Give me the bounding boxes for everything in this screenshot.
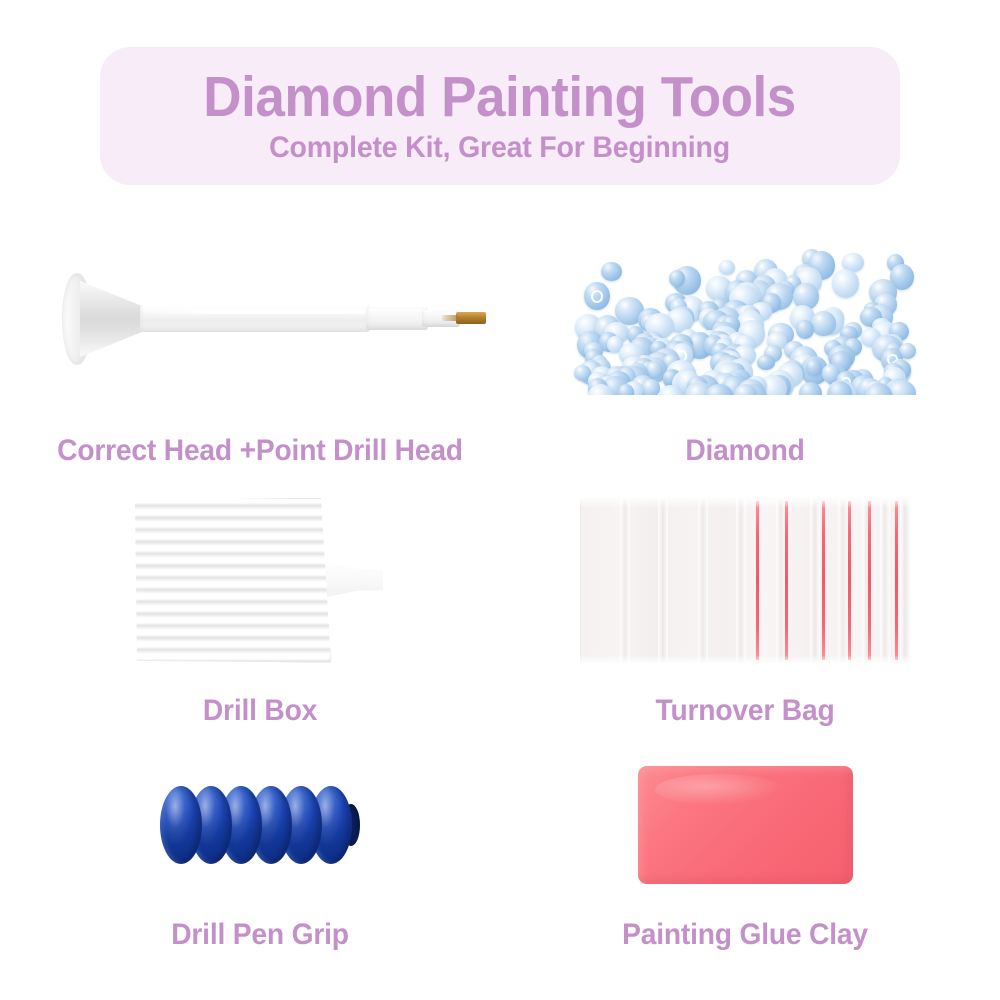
drill-pen-grip-image — [20, 750, 500, 900]
drill-pen-image — [20, 230, 500, 410]
header-card: Diamond Painting Tools Complete Kit, Gre… — [100, 47, 900, 185]
diamond-bead — [719, 260, 735, 275]
diamond-bead — [806, 359, 823, 375]
product-label-drill-box: Drill Box — [34, 694, 485, 728]
bag-fold — [658, 498, 668, 663]
diamond-bead — [796, 320, 814, 339]
glue-clay-illustration — [638, 766, 853, 884]
bag-top-sheen — [580, 498, 910, 508]
page-title: Diamond Painting Tools — [204, 68, 797, 126]
product-label-correct-head-point-drill-head: Correct Head +Point Drill Head — [34, 434, 485, 468]
product-label-painting-glue-clay: Painting Glue Clay — [524, 918, 966, 952]
drill-box-image — [20, 480, 500, 680]
bag-zip-seal-stripe — [868, 501, 871, 660]
clay-gloss-highlight — [655, 774, 784, 805]
drill-pen-grip-illustration — [160, 786, 360, 864]
product-label-turnover-bag: Turnover Bag — [524, 694, 966, 728]
painting-glue-clay-image — [510, 750, 980, 900]
bag-zip-seal-stripe — [822, 501, 825, 660]
bag-fold — [880, 498, 890, 663]
drill-pen-illustration — [56, 265, 486, 375]
pen-gold-point-drill-tip — [456, 312, 486, 324]
bag-fold — [698, 498, 708, 663]
bag-zip-seal-stripe — [785, 501, 788, 660]
product-label-diamond: Diamond — [524, 434, 966, 468]
diamond-bead — [832, 269, 859, 298]
product-cell-turnover-bag: Turnover Bag — [510, 480, 980, 728]
product-cell-correct-head-point-drill-head: Correct Head +Point Drill Head — [20, 230, 500, 468]
drill-box-illustration — [131, 498, 383, 663]
product-grid: Correct Head +Point Drill Head Diamond D… — [0, 210, 1000, 1000]
pen-barrel-second-section — [366, 307, 428, 330]
bag-bottom-sheen — [580, 655, 910, 663]
pen-flare-shading — [80, 281, 144, 357]
bag-fold — [838, 498, 848, 663]
product-cell-painting-glue-clay: Painting Glue Clay — [510, 750, 980, 952]
diamond-bead — [584, 282, 609, 310]
turnover-bag-image — [510, 480, 980, 680]
bag-zip-seal-stripe — [895, 501, 898, 660]
bag-fold — [900, 498, 910, 663]
diamond-bead — [757, 355, 775, 370]
diamond-beads-image — [510, 230, 980, 410]
bag-fold — [810, 498, 820, 663]
product-cell-drill-box: Drill Box — [20, 480, 500, 728]
diamond-bead — [811, 311, 837, 336]
page-subtitle: Complete Kit, Great For Beginning — [270, 132, 731, 164]
product-label-drill-pen-grip: Drill Pen Grip — [34, 918, 485, 952]
bag-fold — [736, 498, 746, 663]
diamond-bead-pile-illustration — [573, 245, 917, 395]
diamond-bead — [601, 262, 622, 281]
bag-zip-seal-stripe — [756, 501, 759, 660]
drill-box-edge — [131, 498, 331, 663]
diamond-bead — [642, 379, 661, 395]
turnover-bag-illustration — [580, 498, 910, 663]
grip-segment — [160, 786, 202, 864]
product-cell-drill-pen-grip: Drill Pen Grip — [20, 750, 500, 952]
product-cell-diamond: Diamond — [510, 230, 980, 468]
bag-zip-seal-stripe — [848, 501, 851, 660]
bag-fold — [620, 498, 630, 663]
